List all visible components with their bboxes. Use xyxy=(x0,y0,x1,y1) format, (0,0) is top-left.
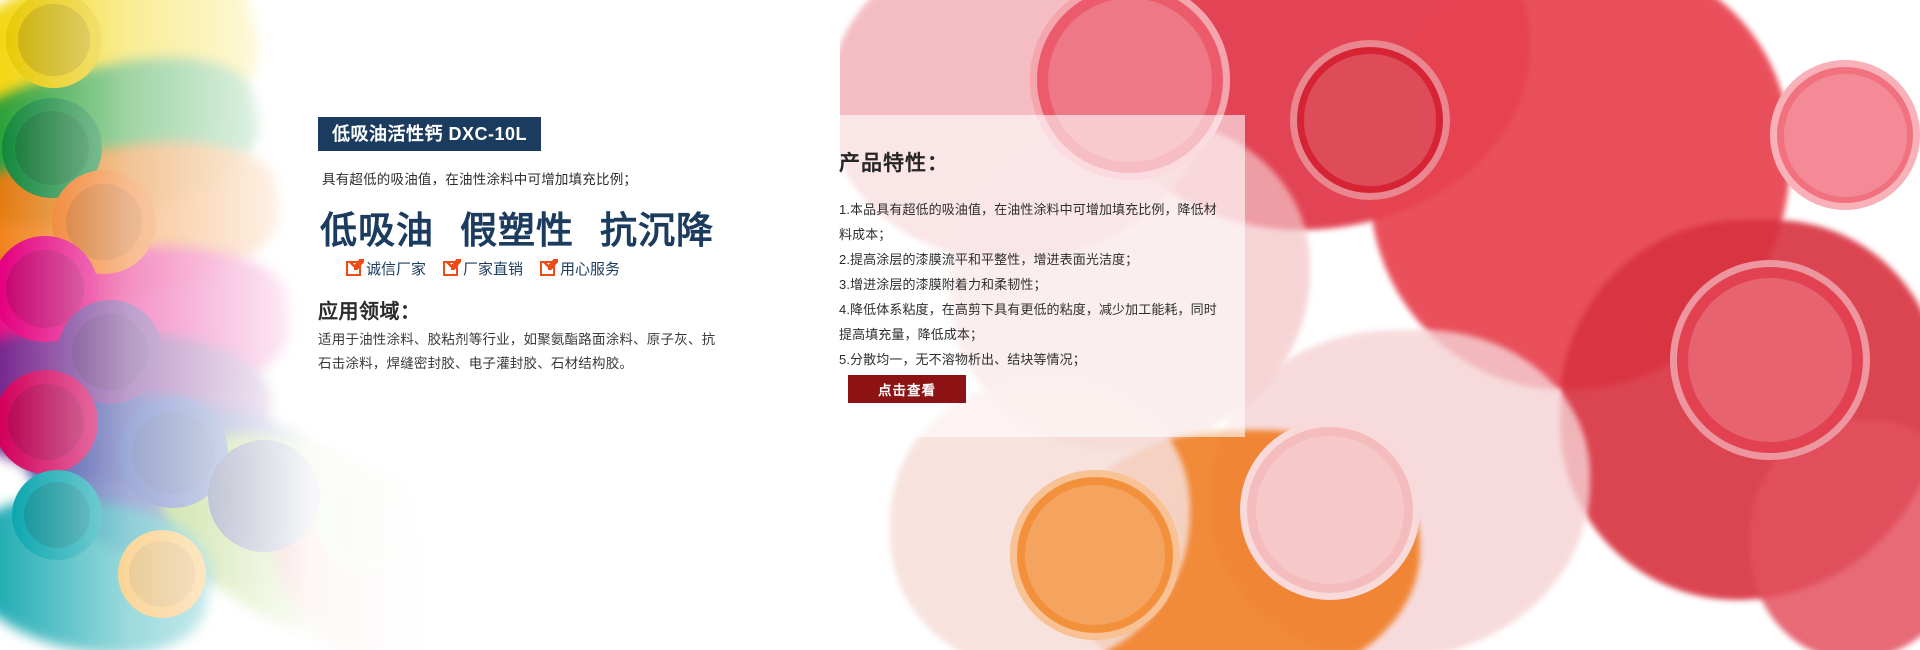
check-square-icon xyxy=(346,261,361,276)
application-fields-body: 适用于油性涂料、胶粘剂等行业，如聚氨酯路面涂料、原子灰、抗石击涂料，焊缝密封胶、… xyxy=(318,328,718,376)
paint-dish-upper-mid xyxy=(1290,40,1450,200)
features-list: 1.本品具有超低的吸油值，在油性涂料中可增加填充比例，降低材料成本； 2.提高涂… xyxy=(839,197,1221,372)
product-subline: 具有超低的吸油值，在油性涂料中可增加填充比例； xyxy=(322,168,637,188)
product-title-chip: 低吸油活性钙 DXC-10L xyxy=(318,117,541,151)
paint-dish-lower-left xyxy=(1010,470,1180,640)
paint-dish-lower-mid xyxy=(1240,420,1420,600)
trust-badge-label: 厂家直销 xyxy=(463,258,523,279)
list-item: 2.提高涂层的漆膜流平和平整性，增进表面光洁度； xyxy=(839,247,1221,272)
trust-badge-honest-maker[interactable]: 诚信厂家 xyxy=(346,258,426,279)
list-item: 4.降低体系粘度，在高剪下具有更低的粘度，减少加工能耗，同时提高填充量，降低成本… xyxy=(839,297,1221,347)
headline-word-3: 抗沉降 xyxy=(600,211,714,252)
paint-dish-right xyxy=(1670,260,1870,460)
list-item: 1.本品具有超低的吸油值，在油性涂料中可增加填充比例，降低材料成本； xyxy=(839,197,1221,247)
left-copy-column: 低吸油活性钙 DXC-10L 具有超低的吸油值，在油性涂料中可增加填充比例； 低… xyxy=(318,0,758,650)
list-item: 5.分散均一，无不溶物析出、结块等情况； xyxy=(839,347,1221,372)
headline-word-1: 低吸油 xyxy=(320,211,434,252)
view-details-button[interactable]: 点击查看 xyxy=(848,375,966,403)
headline-word-2: 假塑性 xyxy=(460,211,574,252)
paint-dish-far-right xyxy=(1770,60,1920,210)
trust-badge-list: 诚信厂家 厂家直销 用心服务 xyxy=(346,258,620,279)
check-square-icon xyxy=(540,261,555,276)
trust-badge-label: 用心服务 xyxy=(560,258,620,279)
product-headline: 低吸油假塑性抗沉降 xyxy=(320,200,714,254)
application-fields-title: 应用领域： xyxy=(318,295,421,324)
features-panel-title: 产品特性： xyxy=(839,147,949,177)
product-banner: 低吸油活性钙 DXC-10L 具有超低的吸油值，在油性涂料中可增加填充比例； 低… xyxy=(0,0,1920,650)
product-features-panel: 产品特性： 1.本品具有超低的吸油值，在油性涂料中可增加填充比例，降低材料成本；… xyxy=(803,115,1245,437)
trust-badge-attentive-service[interactable]: 用心服务 xyxy=(540,258,620,279)
check-square-icon xyxy=(443,261,458,276)
trust-badge-label: 诚信厂家 xyxy=(366,258,426,279)
list-item: 3.增进涂层的漆膜附着力和柔韧性； xyxy=(839,272,1221,297)
trust-badge-factory-direct[interactable]: 厂家直销 xyxy=(443,258,523,279)
